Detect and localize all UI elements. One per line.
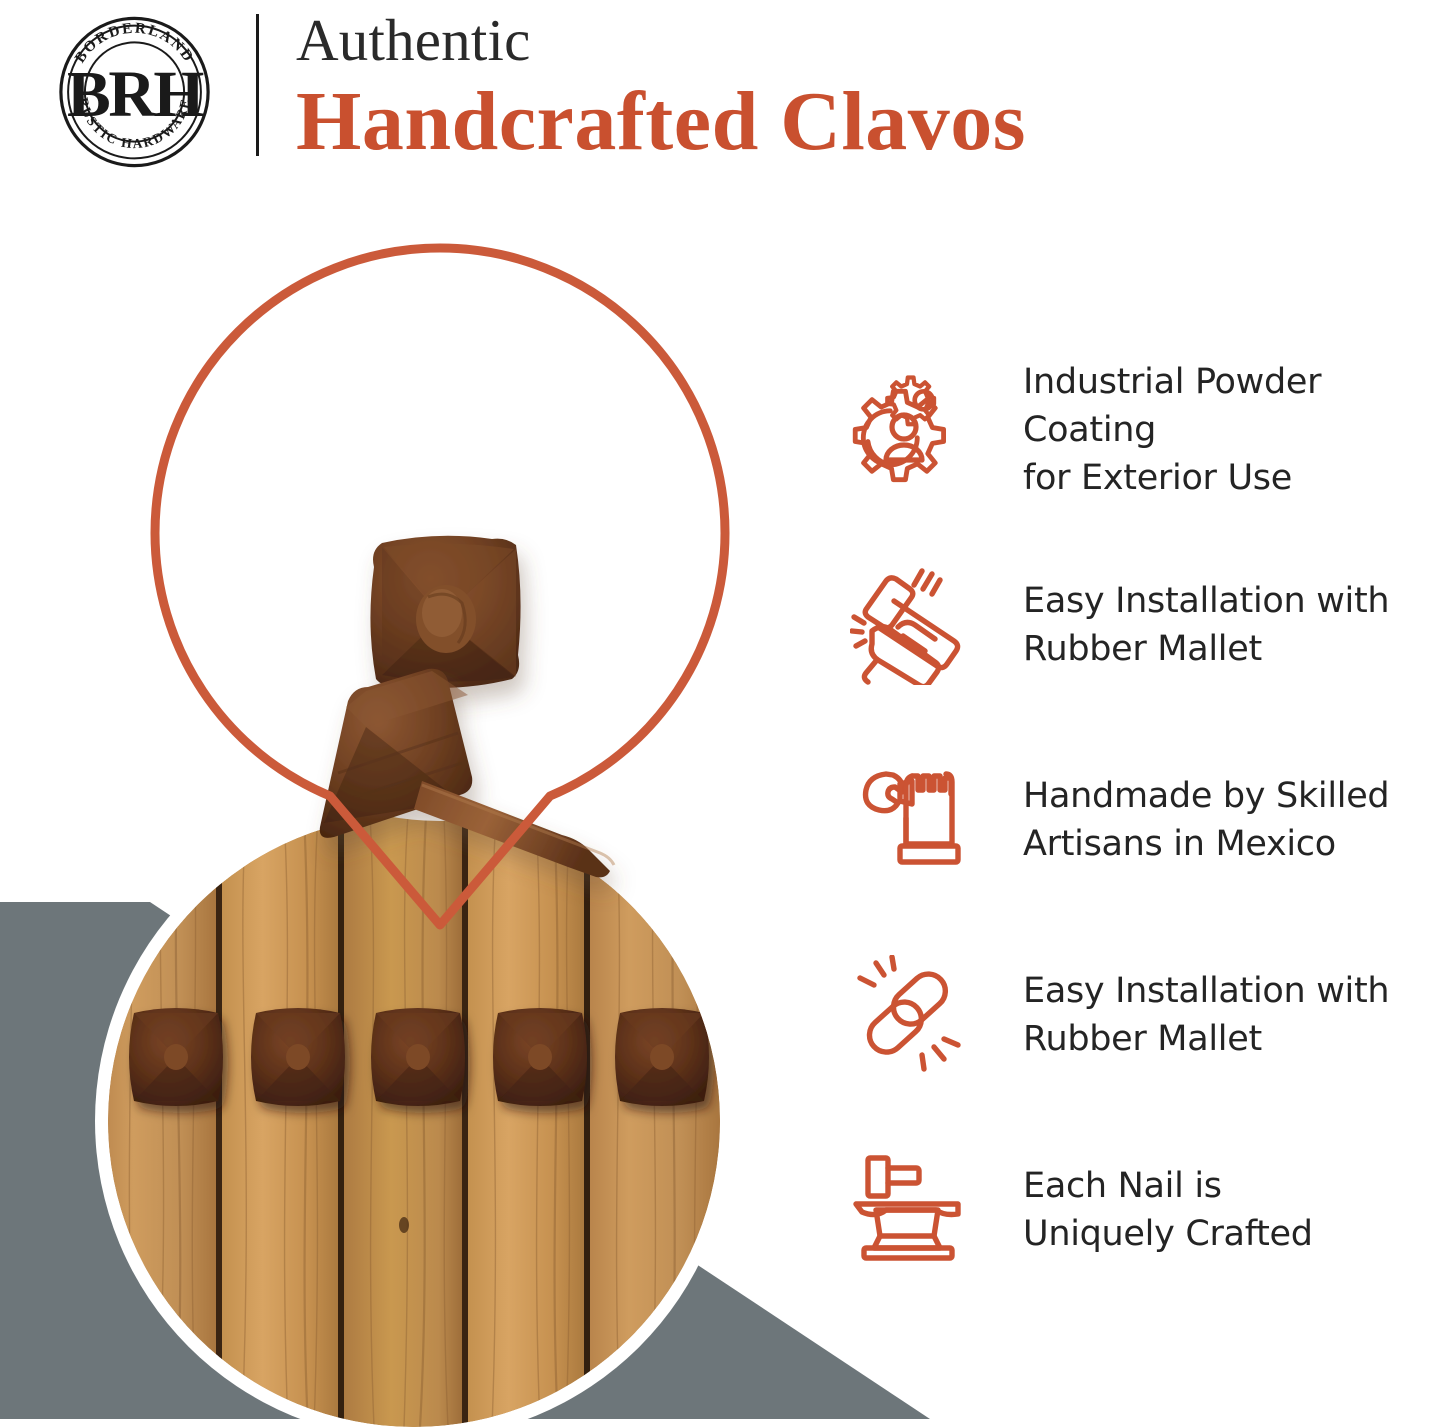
feature-label-line1: Handmade by Skilled — [1023, 772, 1389, 820]
hand-wrench-icon — [845, 755, 975, 885]
installed-clavo — [251, 1008, 345, 1106]
feature-label-line2: Rubber Mallet — [1023, 625, 1389, 673]
feature-label: Easy Installation with Rubber Mallet — [1023, 577, 1389, 673]
clavo-with-shank-view — [320, 669, 614, 878]
anvil-hammer-icon — [845, 1145, 975, 1275]
feature-label-line2: Rubber Mallet — [1023, 1015, 1389, 1063]
feature-list: Industrial Powder Coating for Exterior U… — [845, 360, 1445, 1280]
feature-item: Each Nail is Uniquely Crafted — [845, 1140, 1445, 1280]
feature-item: Easy Installation with Rubber Mallet — [845, 945, 1445, 1085]
product-closeup-clavos-photo — [170, 505, 690, 925]
feature-item: Easy Installation with Rubber Mallet — [845, 555, 1445, 695]
feature-item: Handmade by Skilled Artisans in Mexico — [845, 750, 1445, 890]
header-divider — [256, 14, 259, 156]
feature-label: Industrial Powder Coating for Exterior U… — [1023, 358, 1445, 502]
hand-mallet-icon — [845, 560, 975, 690]
feature-label: Easy Installation with Rubber Mallet — [1023, 967, 1389, 1063]
feature-label-line1: Easy Installation with — [1023, 967, 1389, 1015]
product-visual-column — [0, 185, 800, 1419]
chain-link-icon — [845, 950, 975, 1080]
installed-clavo — [493, 1008, 587, 1106]
feature-label-line2: for Exterior Use — [1023, 454, 1445, 502]
feature-label: Handmade by Skilled Artisans in Mexico — [1023, 772, 1389, 868]
feature-label: Each Nail is Uniquely Crafted — [1023, 1162, 1313, 1258]
installed-clavo — [129, 1008, 223, 1106]
borderland-rustic-hardware-logo: BORDERLAND RUSTIC HARDWARE BRH — [52, 12, 217, 172]
header: BORDERLAND RUSTIC HARDWARE BRH Authentic… — [0, 0, 1445, 185]
feature-item: Industrial Powder Coating for Exterior U… — [845, 360, 1445, 500]
feature-label-line2: Artisans in Mexico — [1023, 820, 1389, 868]
clavo-head-face-view — [370, 536, 520, 688]
installed-clavo — [371, 1008, 465, 1106]
feature-label-line2: Uniquely Crafted — [1023, 1210, 1313, 1258]
feature-label-line1: Easy Installation with — [1023, 577, 1389, 625]
installed-clavo — [615, 1008, 709, 1106]
page-title: Handcrafted Clavos — [296, 76, 1416, 168]
gear-person-icon — [845, 365, 975, 495]
page-subtitle: Authentic — [296, 8, 1416, 72]
header-title-block: Authentic Handcrafted Clavos — [296, 8, 1416, 168]
feature-label-line1: Industrial Powder Coating — [1023, 358, 1445, 454]
feature-label-line1: Each Nail is — [1023, 1162, 1313, 1210]
logo-monogram: BRH — [67, 59, 203, 131]
